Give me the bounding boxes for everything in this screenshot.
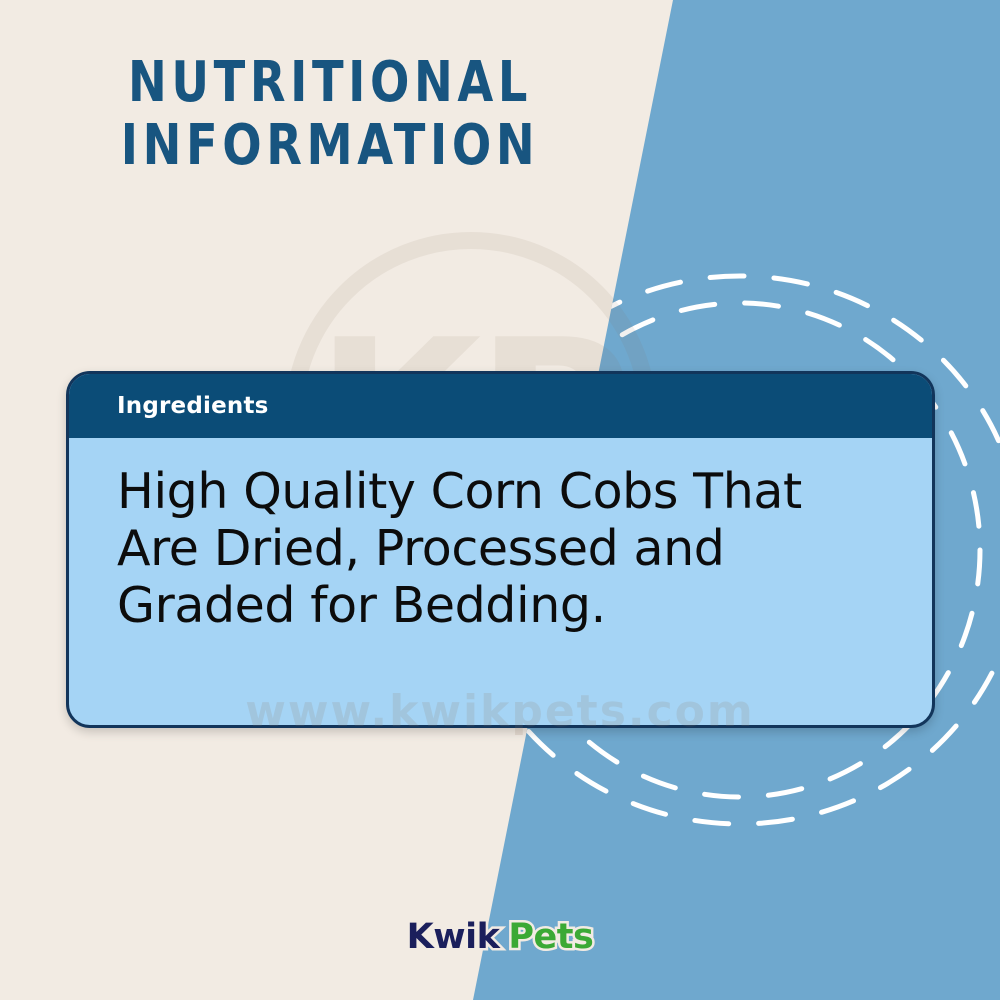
brand-logo-pets: Pets [508,917,593,957]
promo-graphic: KP NUTRITIONAL INFORMATION Ingredients H… [0,0,1000,1000]
ingredients-card-body: High Quality Corn Cobs That Are Dried, P… [69,438,932,634]
page-title: NUTRITIONAL INFORMATION [26,52,633,177]
brand-logo-kwik: Kwik [407,917,500,957]
ingredients-card: Ingredients High Quality Corn Cobs That … [66,371,935,728]
ingredients-card-header: Ingredients [69,374,932,438]
ingredients-label: Ingredients [117,393,269,419]
ingredients-text: High Quality Corn Cobs That Are Dried, P… [117,464,892,634]
watermark-url: www.kwikpets.com [0,686,1000,737]
brand-logo: KwikPets [0,917,1000,957]
